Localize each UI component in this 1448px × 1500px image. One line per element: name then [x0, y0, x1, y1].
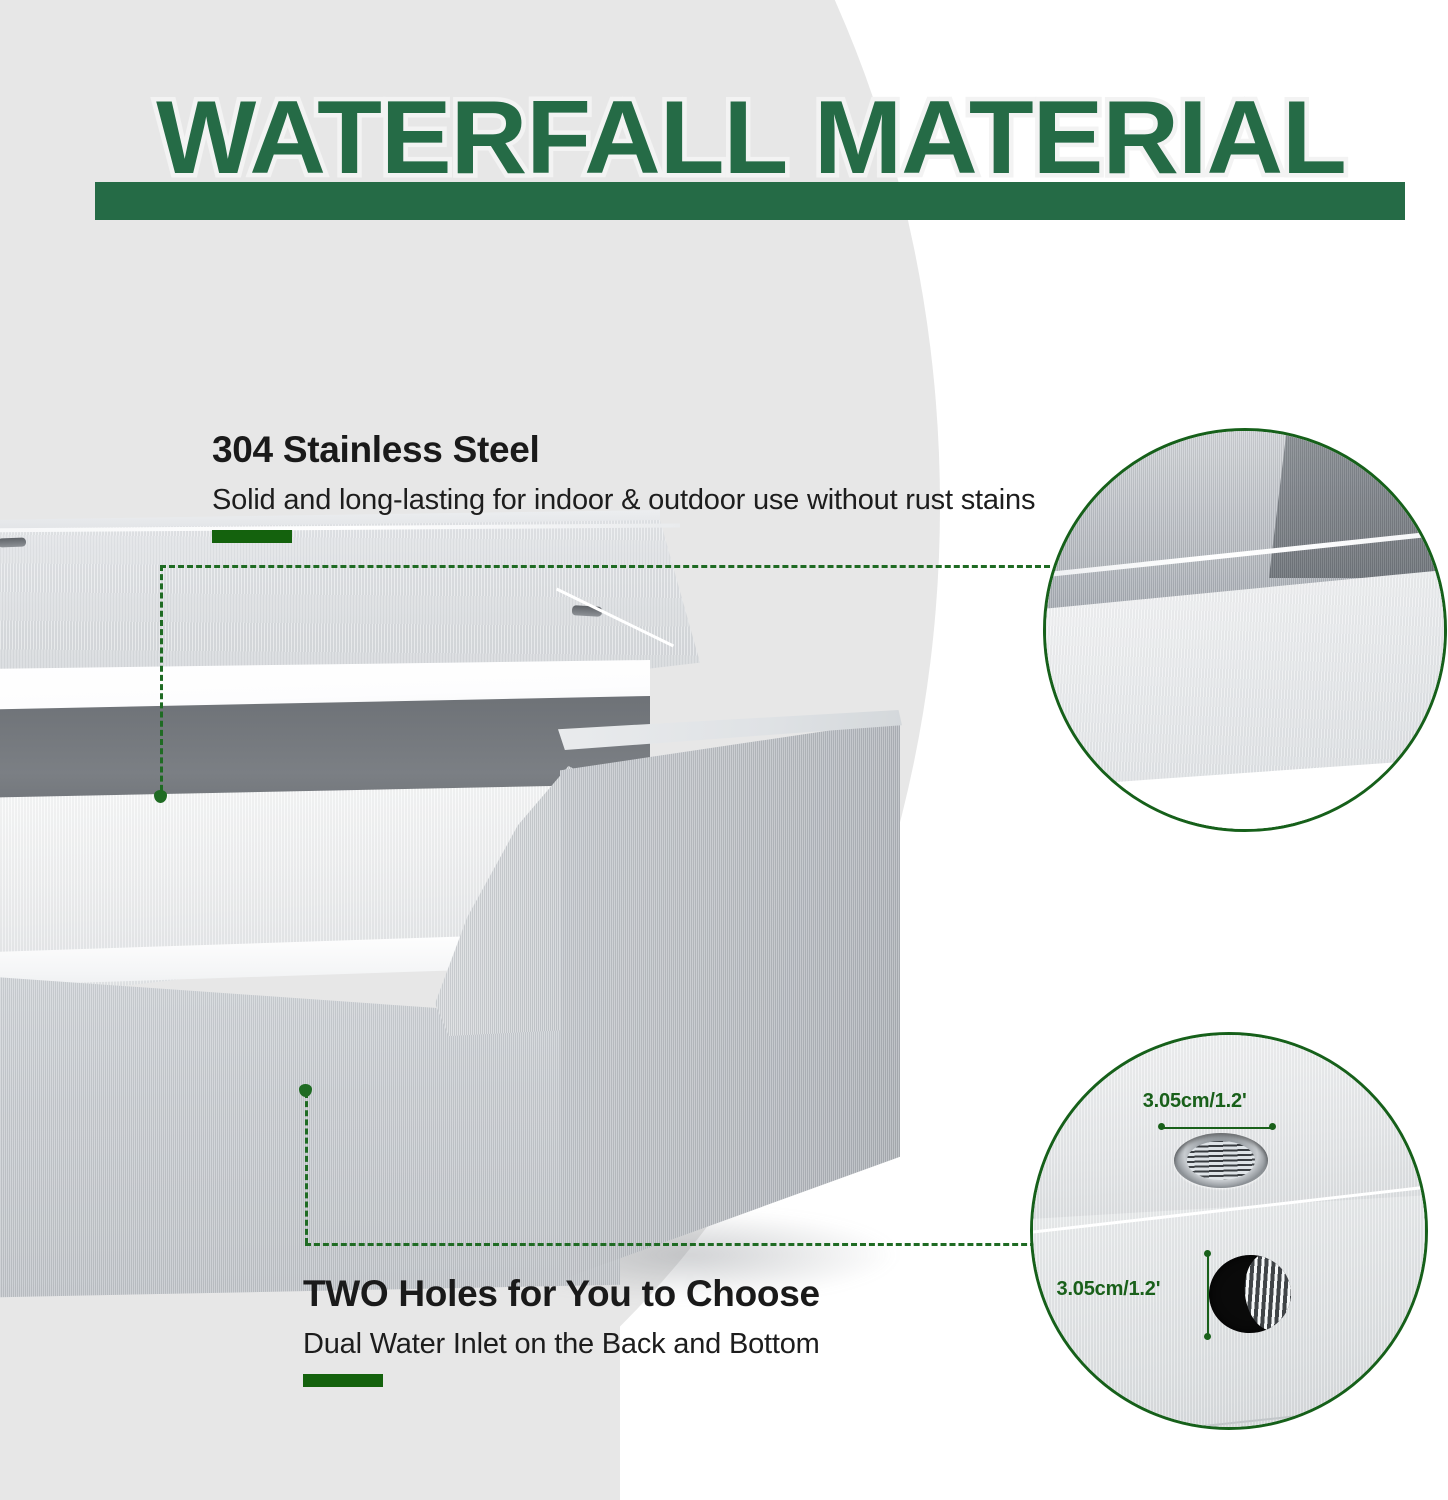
connector-line-bottom-horizontal [305, 1243, 1045, 1246]
callout-subtext: Solid and long-lasting for indoor & outd… [212, 482, 1035, 518]
thread-rings [1187, 1141, 1255, 1181]
connector-line-top-vertical [160, 565, 163, 800]
product-end-cap [560, 720, 900, 1280]
dimension-endpoint-dot [1269, 1123, 1276, 1130]
connector-line-top-horizontal [160, 565, 1050, 568]
dimension-endpoint-dot [1204, 1250, 1211, 1257]
callout-subtext: Dual Water Inlet on the Back and Bottom [303, 1326, 820, 1362]
callout-two-holes: TWO Holes for You to Choose Dual Water I… [303, 1272, 820, 1387]
dimension-endpoint-dot [1204, 1333, 1211, 1340]
callout-heading: TWO Holes for You to Choose [303, 1272, 820, 1316]
page-title: WATERFALL MATERIAL [83, 80, 1419, 196]
callout-underline-rule [303, 1374, 383, 1387]
dimension-label-bottom-inlet: 3.05cm/1.2' [1057, 1278, 1161, 1300]
inset-image [1046, 431, 1444, 829]
dimension-label-back-inlet: 3.05cm/1.2' [1143, 1090, 1247, 1112]
infographic-canvas: WATERFALL MATERIAL 304 Stainless Steel S… [0, 0, 1448, 1500]
dimension-line-bottom-inlet [1207, 1255, 1209, 1335]
back-inlet-hole [1174, 1133, 1268, 1188]
plate-back-face [1030, 1032, 1428, 1227]
callout-heading: 304 Stainless Steel [212, 428, 1035, 472]
callout-stainless-steel: 304 Stainless Steel Solid and long-lasti… [212, 428, 1035, 543]
title-banner: WATERFALL MATERIAL [0, 80, 1448, 215]
dimension-line-back-inlet [1162, 1127, 1272, 1129]
steel-shadowed-wall [1269, 428, 1447, 578]
inset-inlet-holes-closeup: 3.05cm/1.2' 3.05cm/1.2' [1030, 1032, 1428, 1430]
inset-image: 3.05cm/1.2' 3.05cm/1.2' [1033, 1035, 1425, 1427]
inset-steel-corner-closeup [1043, 428, 1447, 832]
product-mounting-notch [0, 538, 26, 548]
connector-line-bottom-vertical [305, 1092, 308, 1244]
product-image-waterfall-spout [0, 520, 920, 1300]
callout-underline-rule [212, 530, 292, 543]
